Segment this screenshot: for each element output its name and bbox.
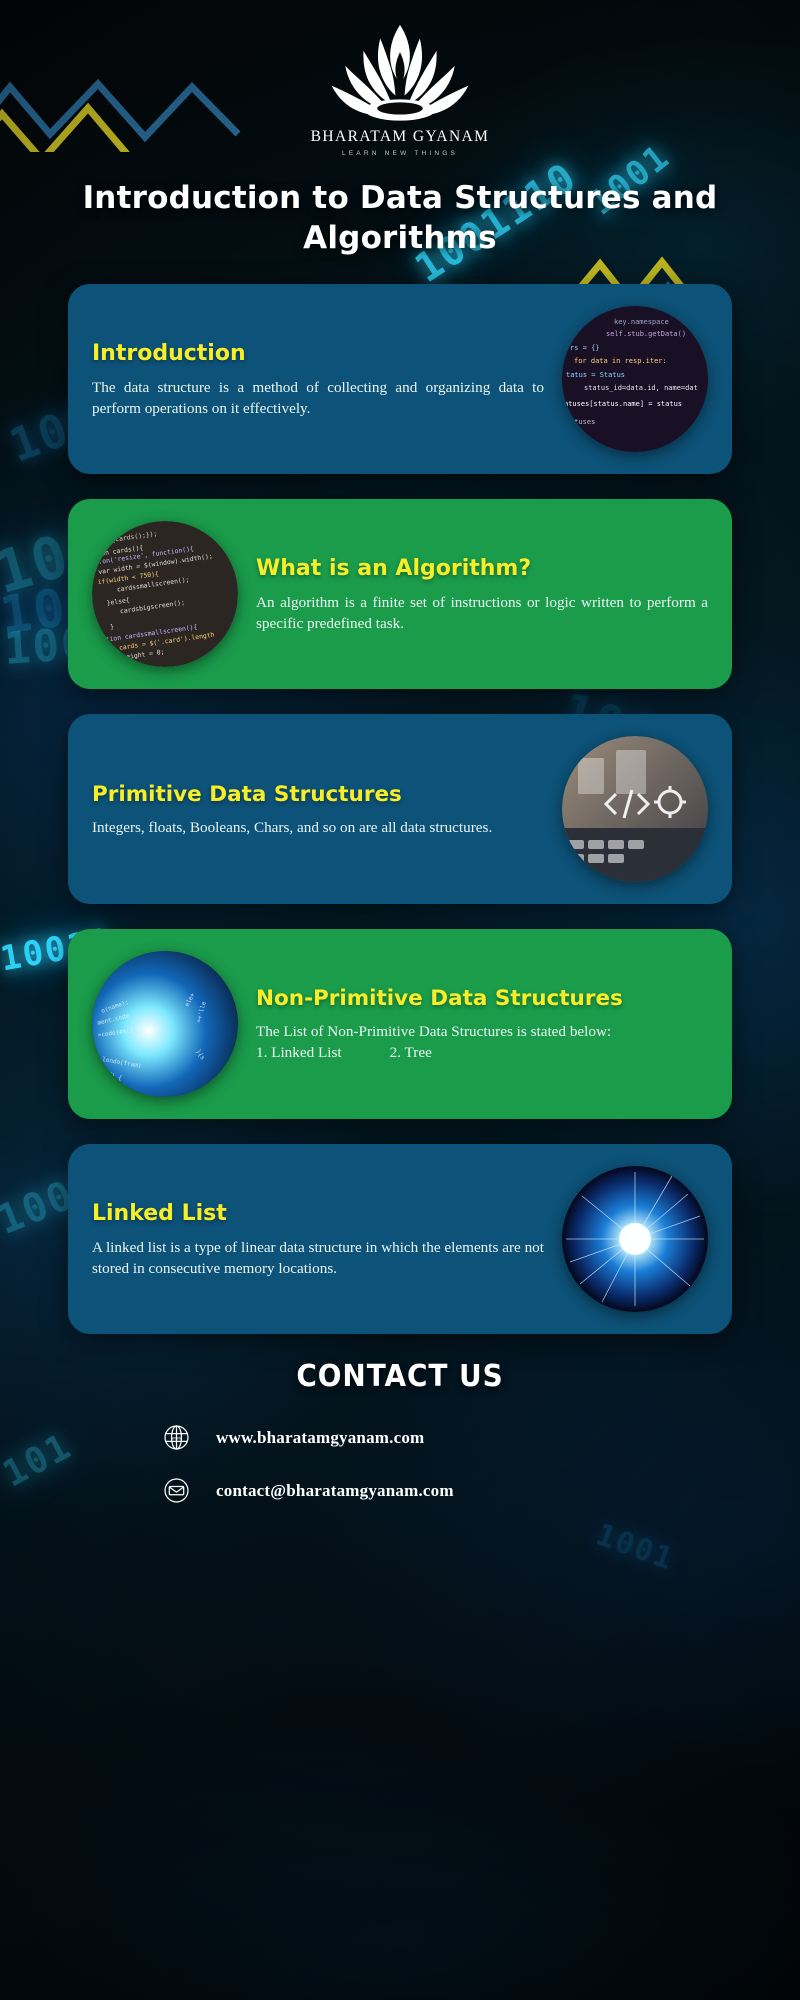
list-item: 2. Tree	[390, 1043, 432, 1064]
email-value: contact@bharatamgyanam.com	[216, 1481, 454, 1501]
card-what-is-an-algorithm[interactable]: What is an Algorithm? An algorithm is a …	[68, 499, 732, 689]
card-body: The data structure is a method of collec…	[92, 378, 544, 420]
header: BHARATAM GYANAM LEARN NEW THINGS	[0, 0, 800, 157]
contact-title: CONTACT US	[28, 1359, 772, 1394]
card-text: Linked List A linked list is a type of l…	[92, 1199, 544, 1280]
brand-name: BHARATAM GYANAM	[311, 128, 490, 146]
list-item: 1. Linked List	[256, 1043, 342, 1064]
svg-text:www: www	[172, 1436, 183, 1441]
card-heading: What is an Algorithm?	[256, 554, 708, 584]
card-text: Primitive Data Structures Integers, floa…	[92, 780, 544, 839]
brand-logo: BHARATAM GYANAM LEARN NEW THINGS	[0, 18, 800, 157]
card-body: Integers, floats, Booleans, Chars, and s…	[92, 818, 544, 839]
contact-rows: www www.bharatamgyanam.com contact@bhara…	[0, 1424, 800, 1504]
laptop-coding-thumbnail	[562, 736, 708, 882]
card-linked-list[interactable]: Linked List A linked list is a type of l…	[68, 1144, 732, 1334]
svg-text:key.namespace: key.namespace	[614, 318, 669, 326]
card-list: 1. Linked List 2. Tree	[256, 1043, 708, 1064]
contact-row-email[interactable]: contact@bharatamgyanam.com	[163, 1477, 454, 1504]
globe-icon: www	[163, 1424, 190, 1451]
cards-section: Introduction The data structure is a met…	[0, 284, 800, 1334]
card-text: What is an Algorithm? An algorithm is a …	[256, 554, 708, 635]
svg-text:atuses[status.name] = status: atuses[status.name] = status	[564, 400, 682, 408]
website-value: www.bharatamgyanam.com	[216, 1428, 424, 1448]
svg-text:self.stub.getData(): self.stub.getData()	[606, 330, 686, 338]
card-heading: Non-Primitive Data Structures	[256, 984, 708, 1013]
card-heading: Linked List	[92, 1199, 544, 1229]
contact-section: CONTACT US www www.bharatamgyanam.com	[0, 1359, 800, 1504]
card-body: An algorithm is a finite set of instruct…	[256, 593, 708, 635]
code-screenshot-thumbnail: key.namespace self.stub.getData() rs = {…	[562, 306, 708, 452]
contact-row-website[interactable]: www www.bharatamgyanam.com	[163, 1424, 424, 1451]
card-heading: Primitive Data Structures	[92, 780, 544, 809]
javascript-code-thumbnail: }(){cards();}); ction cards(){ ow).on('r…	[92, 521, 238, 667]
card-primitive-data-structures[interactable]: Primitive Data Structures Integers, floa…	[68, 714, 732, 904]
svg-text:status_id=data.id, name=dat: status_id=data.id, name=dat	[584, 384, 698, 392]
electric-plasma-sphere-thumbnail	[562, 1166, 708, 1312]
envelope-icon	[163, 1477, 190, 1504]
svg-text:rs = {}: rs = {}	[570, 344, 600, 352]
blue-light-burst-thumbnail: o(name); ment.code >code(#sC) londo(fram…	[92, 951, 238, 1097]
card-text: Non-Primitive Data Structures The List o…	[256, 984, 708, 1064]
svg-text:tatus = Status: tatus = Status	[566, 371, 625, 379]
svg-text:for data in resp.iter:: for data in resp.iter:	[574, 357, 667, 365]
page-title: Introduction to Data Structures and Algo…	[0, 179, 800, 258]
card-body: A linked list is a type of linear data s…	[92, 1238, 544, 1280]
card-body: The List of Non-Primitive Data Structure…	[256, 1022, 708, 1043]
card-text: Introduction The data structure is a met…	[92, 339, 544, 420]
card-introduction[interactable]: Introduction The data structure is a met…	[68, 284, 732, 474]
card-non-primitive-data-structures[interactable]: Non-Primitive Data Structures The List o…	[68, 929, 732, 1119]
svg-text:atuses: atuses	[570, 418, 595, 426]
card-heading: Introduction	[92, 339, 544, 369]
lotus-icon	[324, 18, 476, 126]
brand-tagline: LEARN NEW THINGS	[342, 150, 458, 157]
